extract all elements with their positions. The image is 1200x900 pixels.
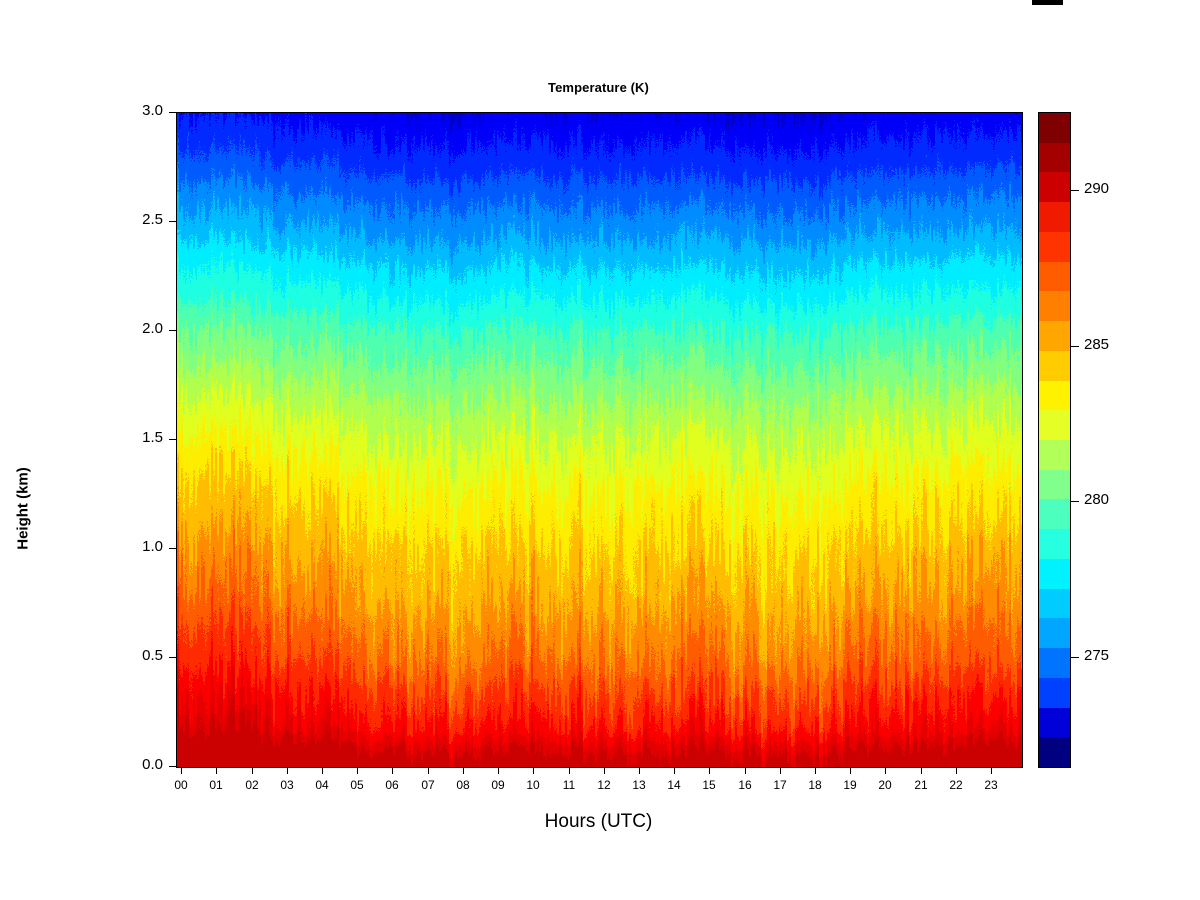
y-tick-mark bbox=[169, 548, 176, 549]
x-tick-mark bbox=[674, 767, 675, 774]
y-tick-mark bbox=[169, 766, 176, 767]
x-tick-mark bbox=[533, 767, 534, 774]
colorbar-block bbox=[1039, 529, 1070, 560]
x-tick-mark bbox=[956, 767, 957, 774]
colorbar-block bbox=[1039, 589, 1070, 620]
x-tick-label: 20 bbox=[870, 778, 900, 792]
y-tick-label: 1.5 bbox=[0, 429, 163, 446]
x-tick-label: 06 bbox=[377, 778, 407, 792]
colorbar-tick-mark bbox=[1070, 190, 1079, 191]
colorbar-block bbox=[1039, 499, 1070, 530]
heatmap-image bbox=[177, 113, 1022, 767]
y-tick-label: 0.0 bbox=[0, 756, 163, 773]
x-tick-label: 04 bbox=[307, 778, 337, 792]
x-tick-label: 14 bbox=[659, 778, 689, 792]
x-tick-label: 17 bbox=[765, 778, 795, 792]
colorbar bbox=[1038, 112, 1071, 768]
x-tick-mark bbox=[498, 767, 499, 774]
y-tick-mark bbox=[169, 330, 176, 331]
x-tick-mark bbox=[780, 767, 781, 774]
colorbar-block bbox=[1039, 470, 1070, 501]
colorbar-block bbox=[1039, 202, 1070, 233]
x-tick-mark bbox=[569, 767, 570, 774]
x-tick-mark bbox=[815, 767, 816, 774]
colorbar-block bbox=[1039, 262, 1070, 293]
y-tick-label: 3.0 bbox=[0, 102, 163, 119]
colorbar-block bbox=[1039, 618, 1070, 649]
colorbar-tick-mark bbox=[1070, 346, 1079, 347]
colorbar-tick-label: 285 bbox=[1084, 336, 1109, 353]
x-tick-mark bbox=[885, 767, 886, 774]
x-tick-label: 21 bbox=[906, 778, 936, 792]
x-tick-mark bbox=[745, 767, 746, 774]
chart-canvas: Temperature (K) Height (km) 0.00.51.01.5… bbox=[0, 0, 1200, 900]
colorbar-tick-label: 280 bbox=[1084, 491, 1109, 508]
x-tick-label: 05 bbox=[342, 778, 372, 792]
x-tick-mark bbox=[392, 767, 393, 774]
colorbar-tick-mark bbox=[1070, 501, 1079, 502]
colorbar-tick-label: 275 bbox=[1084, 647, 1109, 664]
x-tick-label: 09 bbox=[483, 778, 513, 792]
x-tick-mark bbox=[357, 767, 358, 774]
y-tick-label: 2.0 bbox=[0, 320, 163, 337]
colorbar-block bbox=[1039, 708, 1070, 739]
x-tick-label: 13 bbox=[624, 778, 654, 792]
y-tick-mark bbox=[169, 112, 176, 113]
x-tick-label: 03 bbox=[272, 778, 302, 792]
x-tick-mark bbox=[850, 767, 851, 774]
x-tick-label: 11 bbox=[554, 778, 584, 792]
x-tick-label: 18 bbox=[800, 778, 830, 792]
x-tick-mark bbox=[252, 767, 253, 774]
x-tick-label: 12 bbox=[589, 778, 619, 792]
colorbar-block bbox=[1039, 351, 1070, 382]
x-tick-label: 19 bbox=[835, 778, 865, 792]
heatmap-plot-area bbox=[176, 112, 1023, 768]
y-tick-mark bbox=[169, 657, 176, 658]
colorbar-block bbox=[1039, 559, 1070, 590]
colorbar-tick-label: 290 bbox=[1084, 180, 1109, 197]
y-tick-label: 1.0 bbox=[0, 538, 163, 555]
colorbar-block bbox=[1039, 381, 1070, 412]
x-tick-label: 07 bbox=[413, 778, 443, 792]
x-axis-title: Hours (UTC) bbox=[176, 811, 1021, 833]
colorbar-block bbox=[1039, 172, 1070, 203]
x-tick-mark bbox=[463, 767, 464, 774]
x-tick-mark bbox=[604, 767, 605, 774]
x-tick-label: 16 bbox=[730, 778, 760, 792]
x-tick-mark bbox=[216, 767, 217, 774]
page-title: Temperature (K) bbox=[176, 80, 1021, 95]
colorbar-block bbox=[1039, 737, 1070, 768]
colorbar-block bbox=[1039, 113, 1070, 144]
x-tick-label: 23 bbox=[976, 778, 1006, 792]
colorbar-block bbox=[1039, 291, 1070, 322]
x-tick-label: 15 bbox=[694, 778, 724, 792]
colorbar-block bbox=[1039, 410, 1070, 441]
x-tick-label: 00 bbox=[166, 778, 196, 792]
x-tick-mark bbox=[287, 767, 288, 774]
x-tick-label: 22 bbox=[941, 778, 971, 792]
colorbar-block bbox=[1039, 648, 1070, 679]
x-tick-mark bbox=[181, 767, 182, 774]
x-tick-mark bbox=[709, 767, 710, 774]
x-tick-mark bbox=[428, 767, 429, 774]
y-tick-label: 2.5 bbox=[0, 211, 163, 228]
x-tick-mark bbox=[322, 767, 323, 774]
x-tick-mark bbox=[991, 767, 992, 774]
colorbar-block bbox=[1039, 321, 1070, 352]
y-tick-mark bbox=[169, 221, 176, 222]
colorbar-block bbox=[1039, 678, 1070, 709]
x-tick-label: 08 bbox=[448, 778, 478, 792]
x-tick-mark bbox=[921, 767, 922, 774]
x-tick-mark bbox=[639, 767, 640, 774]
colorbar-block bbox=[1039, 440, 1070, 471]
x-tick-label: 10 bbox=[518, 778, 548, 792]
colorbar-block bbox=[1039, 143, 1070, 174]
y-tick-mark bbox=[169, 439, 176, 440]
x-tick-label: 02 bbox=[237, 778, 267, 792]
colorbar-tick-mark bbox=[1070, 657, 1079, 658]
top-edge-artifact bbox=[1032, 0, 1063, 5]
y-axis-title: Height (km) bbox=[15, 439, 32, 579]
y-tick-label: 0.5 bbox=[0, 647, 163, 664]
x-tick-label: 01 bbox=[201, 778, 231, 792]
colorbar-block bbox=[1039, 232, 1070, 263]
